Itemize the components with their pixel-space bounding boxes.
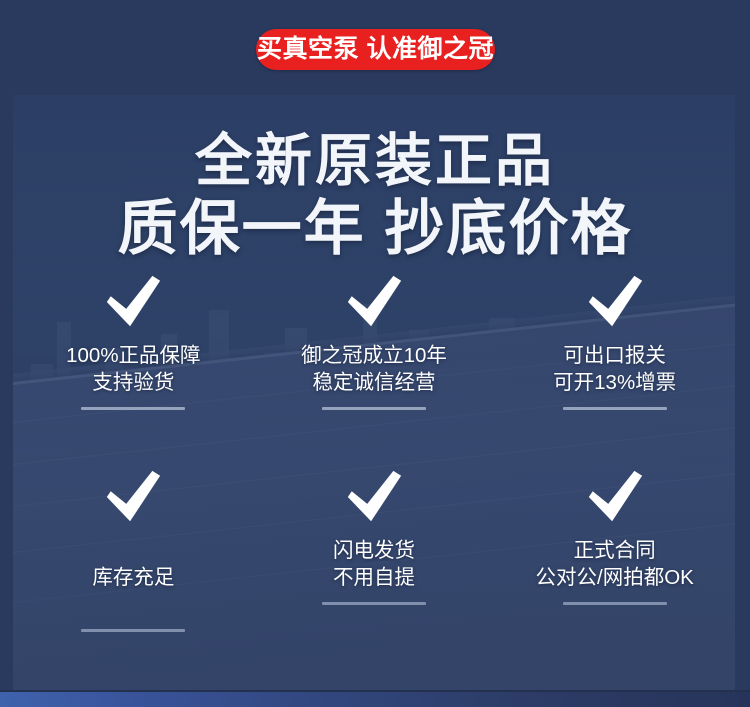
promo-poster: 买真空泵 认准御之冠 全新原装正品 质保一年 抄底价格 100%正品保障 支持验… [0,0,750,707]
feature-item: 闪电发货 不用自提 [254,467,495,632]
headline-line-1: 全新原装正品 [0,128,750,194]
feature-label-line-1: 闪电发货 [333,537,415,564]
feature-row-1: 100%正品保障 支持验货 御之冠成立10年 稳定诚信经营 [13,272,735,410]
feature-separator [563,602,667,605]
feature-label-line-2: 公对公/网拍都OK [536,564,694,591]
feature-grid: 100%正品保障 支持验货 御之冠成立10年 稳定诚信经营 [13,272,735,632]
feature-item: 正式合同 公对公/网拍都OK [494,467,735,632]
headline-block: 全新原装正品 质保一年 抄底价格 [0,128,750,264]
feature-separator [81,407,185,410]
check-icon [102,467,164,529]
check-icon [584,272,646,334]
feature-separator [322,407,426,410]
slogan-text: 买真空泵 认准御之冠 [257,37,494,62]
feature-item: 可出口报关 可开13%增票 [494,272,735,410]
feature-item: 御之冠成立10年 稳定诚信经营 [254,272,495,410]
feature-item: 100%正品保障 支持验货 [13,272,254,410]
check-icon [343,467,405,529]
feature-item: 库存充足 [13,467,254,632]
headline-line-2: 质保一年 抄底价格 [0,194,750,264]
feature-label-line-2: 可开13%增票 [553,369,676,396]
feature-separator [81,629,185,632]
feature-row-2: 库存充足 闪电发货 不用自提 正式合同 [13,467,735,632]
feature-label-line-2: 支持验货 [66,369,200,396]
feature-separator [563,407,667,410]
slogan-banner: 买真空泵 认准御之冠 [256,29,495,70]
frame-left [0,0,13,707]
feature-label-line-1: 库存充足 [92,564,174,591]
feature-label-line-1: 可出口报关 [553,342,676,369]
feature-label-line-1: 御之冠成立10年 [301,342,447,369]
feature-label-line-1: 100%正品保障 [66,342,200,369]
feature-label-line-1: 正式合同 [536,537,694,564]
frame-right [735,0,750,707]
feature-label-line-2: 稳定诚信经营 [301,369,447,396]
bottom-accent-band [0,692,750,707]
check-icon [102,272,164,334]
feature-separator [322,602,426,605]
check-icon [584,467,646,529]
check-icon [343,272,405,334]
feature-label-line-2: 不用自提 [333,564,415,591]
